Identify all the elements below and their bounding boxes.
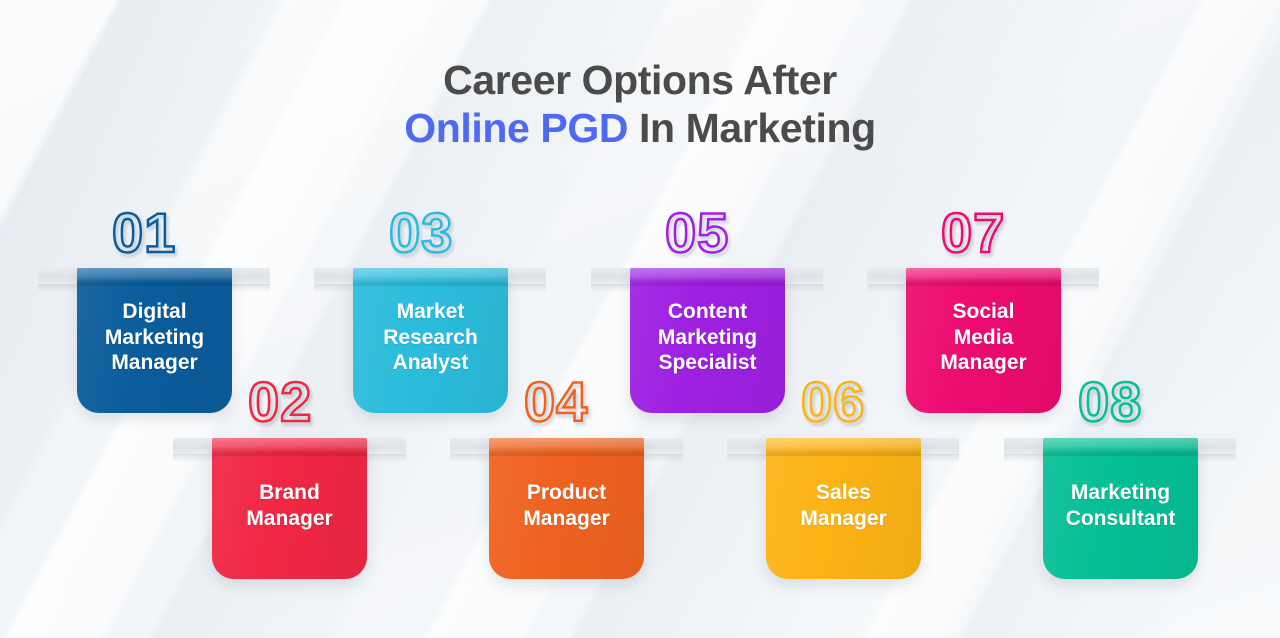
title-highlight: Online PGD <box>404 105 628 151</box>
career-card-07-label: Social Media Manager <box>940 299 1026 376</box>
step-number-08-text: 08 <box>1078 370 1142 433</box>
page-title: Career Options After Online PGD In Marke… <box>0 56 1280 153</box>
step-number-02-text: 02 <box>248 370 312 433</box>
step-number-07: 07 <box>941 205 1005 261</box>
step-number-06: 06 <box>801 374 865 430</box>
step-number-04: 04 <box>524 374 588 430</box>
career-card-06[interactable]: Sales Manager <box>766 438 921 579</box>
career-card-02[interactable]: Brand Manager <box>212 438 367 579</box>
step-number-08: 08 <box>1078 374 1142 430</box>
career-card-05-label: Content Marketing Specialist <box>658 299 757 376</box>
career-card-05[interactable]: Content Marketing Specialist <box>630 268 785 413</box>
title-line-2-rest: In Marketing <box>628 105 876 151</box>
title-line-1: Career Options After <box>0 56 1280 104</box>
step-number-06-text: 06 <box>801 370 865 433</box>
career-card-01[interactable]: Digital Marketing Manager <box>77 268 232 413</box>
step-number-02: 02 <box>248 374 312 430</box>
career-card-03-label: Market Research Analyst <box>383 299 478 376</box>
career-card-01-label: Digital Marketing Manager <box>105 299 204 376</box>
career-card-08[interactable]: Marketing Consultant <box>1043 438 1198 579</box>
step-number-05: 05 <box>665 205 729 261</box>
step-number-03-text: 03 <box>389 201 453 264</box>
career-card-07[interactable]: Social Media Manager <box>906 268 1061 413</box>
step-number-04-text: 04 <box>524 370 588 433</box>
step-number-05-text: 05 <box>665 201 729 264</box>
career-card-02-label: Brand Manager <box>246 480 332 531</box>
career-card-04-label: Product Manager <box>523 480 609 531</box>
step-number-03: 03 <box>389 205 453 261</box>
career-card-08-label: Marketing Consultant <box>1066 480 1176 531</box>
career-card-03[interactable]: Market Research Analyst <box>353 268 508 413</box>
career-card-04[interactable]: Product Manager <box>489 438 644 579</box>
step-number-07-text: 07 <box>941 201 1005 264</box>
title-line-2: Online PGD In Marketing <box>0 104 1280 152</box>
step-number-01-text: 01 <box>112 201 176 264</box>
step-number-01: 01 <box>112 205 176 261</box>
career-card-06-label: Sales Manager <box>800 480 886 531</box>
infographic-stage: Career Options After Online PGD In Marke… <box>0 0 1280 638</box>
